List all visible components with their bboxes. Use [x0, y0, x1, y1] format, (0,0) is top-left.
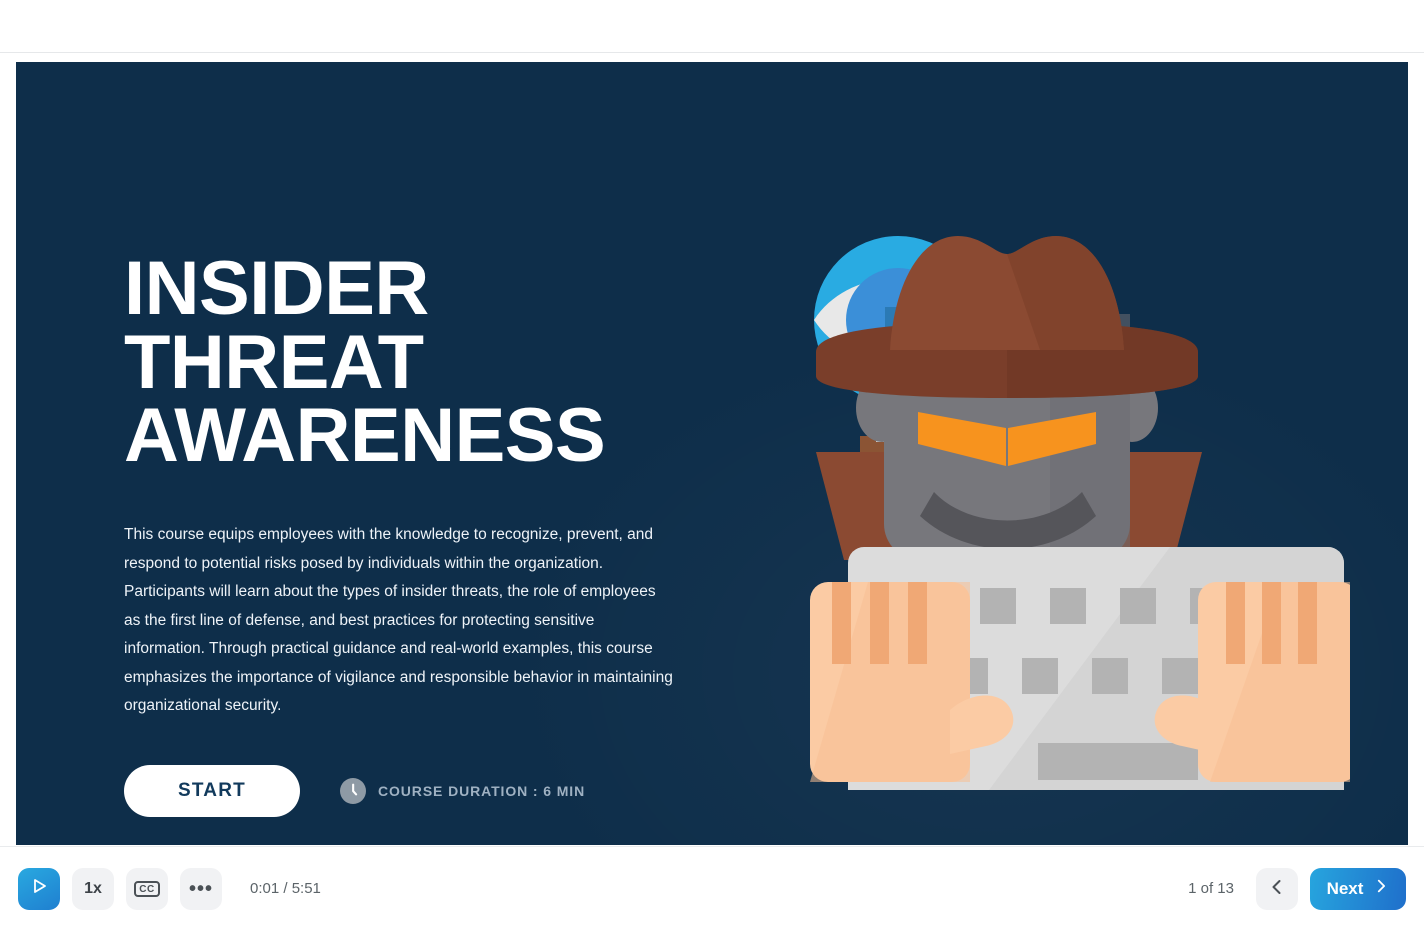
course-duration-label: COURSE DURATION : 6 MIN: [378, 783, 585, 799]
next-slide-button[interactable]: Next: [1310, 868, 1406, 910]
course-description: This course equips employees with the kn…: [124, 521, 676, 721]
playback-speed-button[interactable]: 1x: [72, 868, 114, 910]
keyboard-key: [1022, 658, 1058, 694]
cc-icon: CC: [134, 881, 159, 897]
top-bar: [0, 0, 1424, 53]
clock-icon: [340, 778, 366, 804]
keyboard-key: [1120, 588, 1156, 624]
more-options-button[interactable]: •••: [180, 868, 222, 910]
keyboard-key: [980, 588, 1016, 624]
course-duration: COURSE DURATION : 6 MIN: [340, 778, 585, 804]
chevron-right-icon: [1373, 878, 1389, 899]
slide-text-column: INSIDER THREAT AWARENESS This course equ…: [124, 252, 724, 817]
previous-slide-button[interactable]: [1256, 868, 1298, 910]
keyboard-spacebar: [1038, 743, 1198, 780]
course-slide: INSIDER THREAT AWARENESS This course equ…: [16, 62, 1408, 845]
next-button-label: Next: [1327, 879, 1364, 899]
slide-action-row: START COURSE DURATION : 6 MIN: [124, 765, 724, 817]
player-left-controls: 1x CC ••• 0:01 / 5:51: [18, 868, 321, 910]
page-title: INSIDER THREAT AWARENESS: [124, 252, 724, 473]
keyboard-key: [1050, 588, 1086, 624]
keyboard-key: [1162, 658, 1198, 694]
player-right-controls: 1 of 13 Next: [1188, 868, 1406, 910]
chevron-left-icon: [1268, 878, 1286, 899]
spy-periscope-keyboard-illustration: [810, 230, 1350, 790]
player-controls-bar: 1x CC ••• 0:01 / 5:51 1 of 13 Next: [0, 846, 1424, 930]
page-indicator: 1 of 13: [1188, 880, 1234, 897]
keyboard-key: [1092, 658, 1128, 694]
play-button[interactable]: [18, 868, 60, 910]
more-options-icon: •••: [189, 885, 213, 893]
start-button[interactable]: START: [124, 765, 300, 817]
time-display: 0:01 / 5:51: [250, 880, 321, 897]
play-icon: [29, 876, 49, 901]
closed-captions-button[interactable]: CC: [126, 868, 168, 910]
